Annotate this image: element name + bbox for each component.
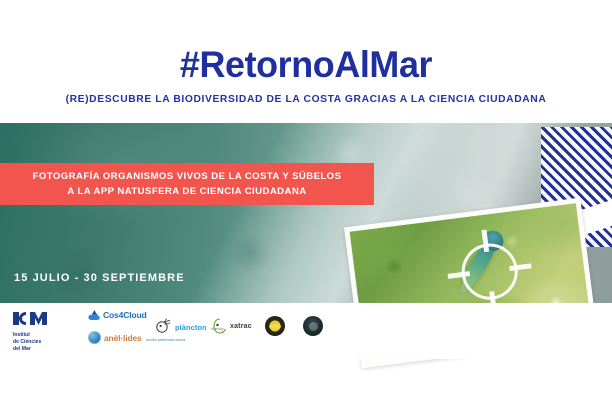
cta-line-1: FOTOGRAFÍA ORGANISMOS VIVOS DE LA COSTA …	[33, 169, 342, 184]
plankton-icon	[155, 318, 173, 334]
cloud-icon	[88, 310, 100, 321]
cta-line-2: A LA APP NATUSFERA DE CIENCIA CIUDADANA	[67, 184, 306, 199]
campaign-poster: #RetornoAlMar (RE)DESCUBRE LA BIODIVERSI…	[0, 0, 612, 408]
dark-seal-icon	[303, 316, 323, 336]
cos4cloud-wordmark: Cos4Cloud	[103, 311, 147, 320]
logo-icm[interactable]: Institut de Ciències del Mar	[13, 311, 83, 353]
xatrac-wordmark: xatrac	[230, 323, 252, 330]
campaign-dates: 15 JULIO - 30 SEPTIEMBRE	[14, 272, 185, 284]
call-to-action-banner: FOTOGRAFÍA ORGANISMOS VIVOS DE LA COSTA …	[0, 163, 374, 205]
gold-seal-icon	[265, 316, 285, 336]
icm-name-line-3: del Mar	[13, 346, 55, 353]
anel-lides-wordmark: anèl·lides	[104, 333, 142, 343]
anel-lides-tagline: serveis ambientals marins	[146, 338, 185, 342]
logo-partner-seal-gold[interactable]	[265, 316, 285, 336]
logo-xatrac[interactable]: xatrac	[212, 318, 252, 334]
icm-name: Institut de Ciències del Mar	[13, 332, 55, 353]
icm-mark-icon	[13, 311, 55, 326]
plancton-wordmark: plàncton	[175, 323, 207, 332]
partner-logo-row: Institut de Ciències del Mar Cos4Cloud	[0, 303, 612, 359]
globe-icon	[88, 331, 101, 344]
icm-monogram-icon	[13, 311, 55, 330]
poster-subtitle: (RE)DESCUBRE LA BIODIVERSIDAD DE LA COST…	[3, 95, 609, 105]
icm-name-line-2: de Ciències	[13, 339, 55, 346]
poster-header: #RetornoAlMar (RE)DESCUBRE LA BIODIVERSI…	[0, 0, 612, 123]
page-title: #RetornoAlMar	[9, 46, 603, 83]
logo-partner-seal-dark[interactable]	[303, 316, 323, 336]
bird-ring-icon	[212, 318, 228, 334]
icm-name-line-1: Institut	[13, 332, 55, 339]
